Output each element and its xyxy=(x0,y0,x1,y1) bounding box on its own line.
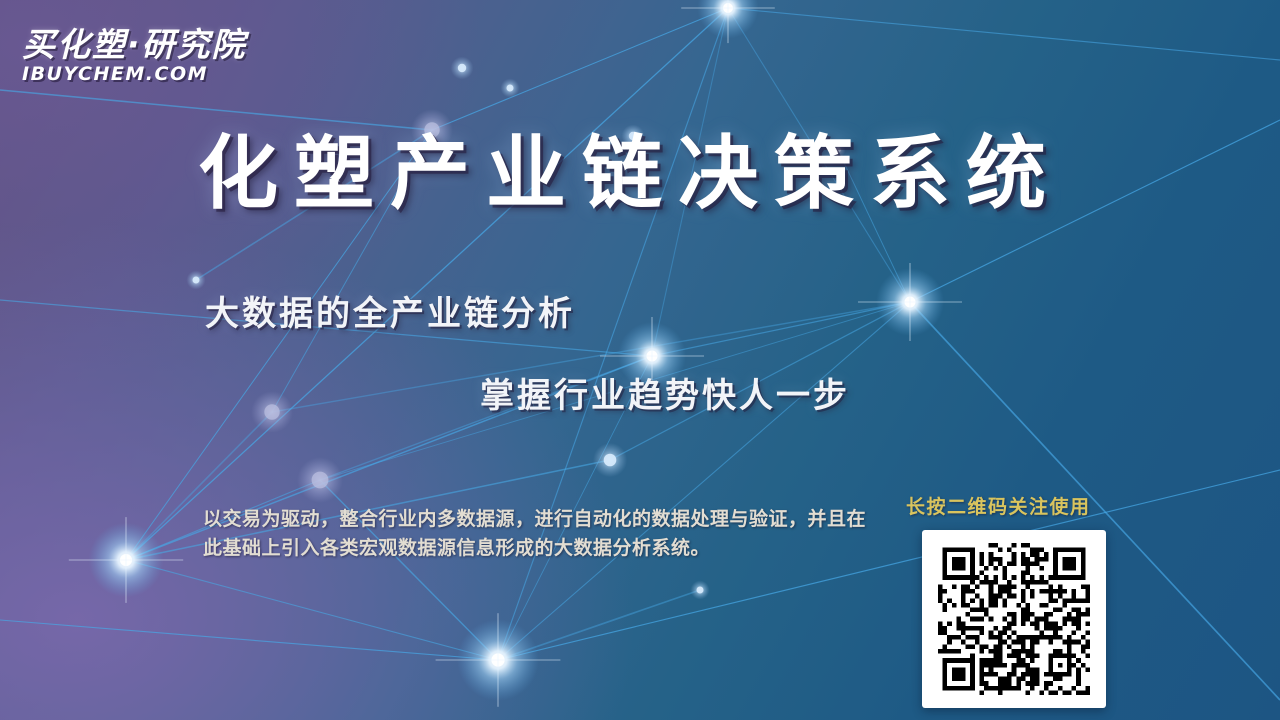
network-node xyxy=(312,472,329,489)
network-node xyxy=(697,587,704,594)
network-edge xyxy=(498,590,700,660)
network-edge xyxy=(126,560,498,660)
qr-caption-label: 长按二维码关注使用 xyxy=(906,492,1091,519)
network-node-glow xyxy=(691,581,710,600)
promo-banner: 买化塑·研究院 IBUYCHEM.COM 化塑产业链决策系统 大数据的全产业链分… xyxy=(0,0,1280,720)
subtitle-line-2: 掌握行业趋势快人一步 xyxy=(480,368,850,417)
network-nodes xyxy=(69,0,962,707)
network-edge xyxy=(498,302,910,660)
network-node xyxy=(264,404,279,419)
network-edge xyxy=(498,470,1280,660)
node-flare xyxy=(69,517,183,603)
network-node xyxy=(458,64,466,72)
network-node-glow xyxy=(593,443,627,477)
subtitle-line-1: 大数据的全产业链分析 xyxy=(205,286,575,335)
network-node-glow xyxy=(451,57,474,80)
logo-domain-name: IBUYCHEM.COM xyxy=(22,63,322,85)
node-flare xyxy=(681,0,775,43)
network-node xyxy=(723,3,733,13)
qr-code-icon[interactable] xyxy=(938,543,1090,695)
network-node-glow xyxy=(876,268,944,336)
network-edge xyxy=(728,8,1280,60)
network-node xyxy=(647,351,658,362)
node-flare xyxy=(858,263,962,341)
network-edge xyxy=(432,8,728,130)
network-node-glow xyxy=(251,391,293,433)
page-title: 化塑产业链决策系统 xyxy=(0,132,1260,217)
network-node-glow xyxy=(501,79,520,98)
description-paragraph: 以交易为驱动，整合行业内多数据源，进行自动化的数据处理与验证，并且在此基础上引入… xyxy=(203,505,871,563)
network-edge xyxy=(0,620,498,660)
network-node xyxy=(905,297,916,308)
network-node-glow xyxy=(457,619,539,701)
qr-code-card[interactable] xyxy=(922,530,1106,708)
network-node xyxy=(604,454,617,467)
node-flare xyxy=(436,613,561,707)
network-edge xyxy=(652,302,910,356)
network-node-glow xyxy=(297,457,343,503)
network-node xyxy=(507,85,514,92)
network-node xyxy=(491,653,504,666)
network-node xyxy=(120,554,132,566)
brand-logo: 买化塑·研究院 IBUYCHEM.COM xyxy=(22,28,322,102)
network-node-glow xyxy=(89,523,164,598)
network-node-glow xyxy=(187,271,206,290)
network-node xyxy=(193,277,200,284)
logo-chinese-name: 买化塑·研究院 xyxy=(22,28,322,61)
network-node-glow xyxy=(697,0,758,39)
